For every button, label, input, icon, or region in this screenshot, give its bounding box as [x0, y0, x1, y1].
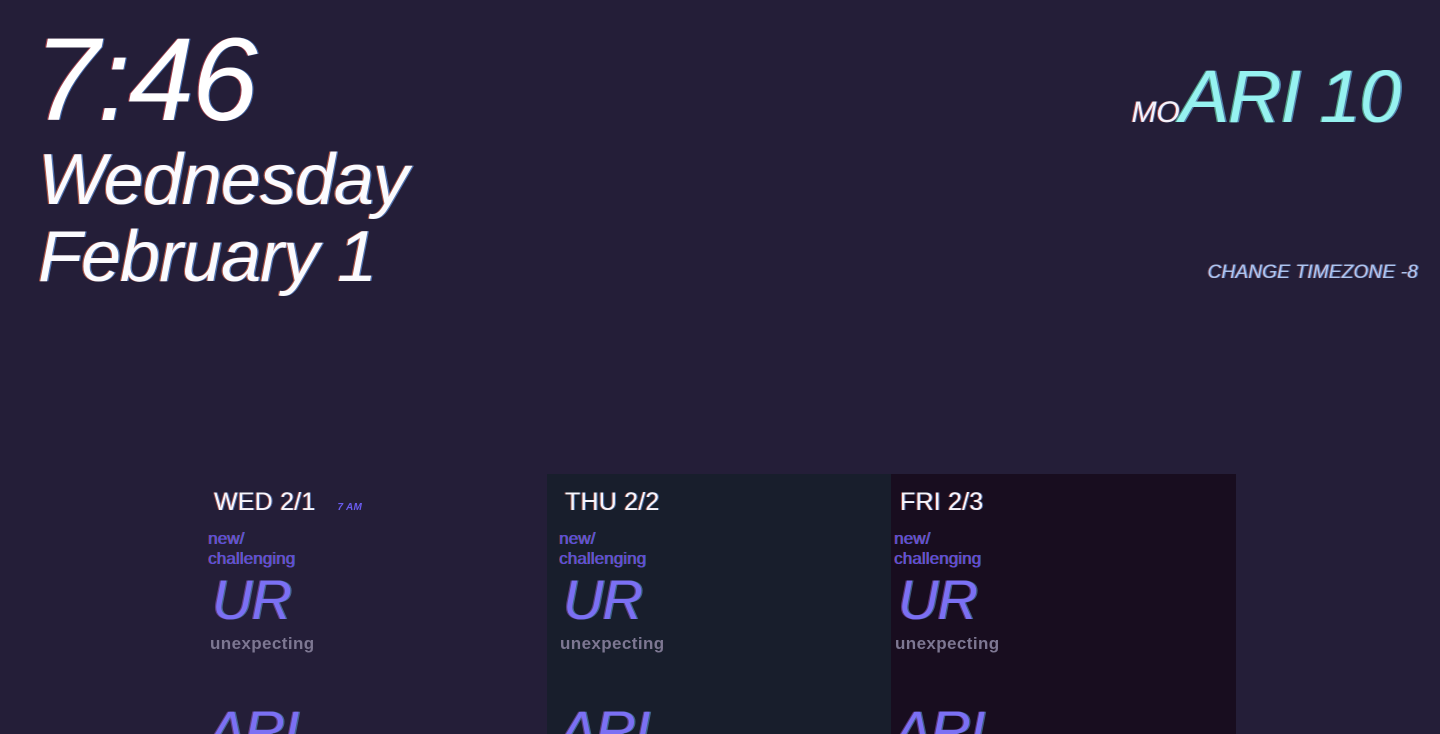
keyword-primary: UR	[563, 571, 891, 628]
keyword-subtitle: unexpecting	[210, 634, 548, 654]
zodiac-sign-block[interactable]: MO ARI 10	[1131, 60, 1400, 134]
card-date-label: THU 2/2	[565, 488, 659, 517]
clock-date: February 1	[38, 217, 408, 298]
card-header: WED 2/1 7 AM	[208, 488, 548, 517]
keyword-top: new/ challenging	[559, 529, 891, 569]
keyword-top-line2: challenging	[559, 549, 891, 569]
forecast-card-thu[interactable]: THU 2/2 new/ challenging UR unexpecting …	[547, 474, 891, 734]
card-body: new/ challenging UR unexpecting ARI	[208, 529, 548, 734]
clock-weekday: Wednesday	[38, 140, 408, 221]
sign-label: ARI 10	[1180, 60, 1400, 134]
sign-prefix-label: MO	[1131, 96, 1179, 130]
card-hour-label: 7 AM	[337, 502, 362, 513]
keyword-top: new/ challenging	[894, 529, 1236, 569]
forecast-card-fri[interactable]: FRI 2/3 new/ challenging UR unexpecting …	[891, 474, 1236, 734]
keyword-top-line1: new/	[208, 529, 548, 549]
keyword-top-line1: new/	[559, 529, 891, 549]
keyword-subtitle: unexpecting	[895, 634, 1236, 654]
clock-block: 7:46 Wednesday February 1	[34, 20, 408, 298]
keyword-secondary: ARI	[208, 702, 548, 734]
clock-time: 7:46	[34, 20, 408, 140]
keyword-primary: UR	[212, 571, 548, 628]
card-header: FRI 2/3	[894, 488, 1236, 517]
card-body: new/ challenging UR unexpecting ARI	[894, 529, 1236, 734]
card-header: THU 2/2	[559, 488, 891, 517]
keyword-secondary: ARI	[894, 702, 1236, 734]
card-date-label: WED 2/1	[214, 488, 315, 517]
keyword-top-line1: new/	[894, 529, 1236, 549]
card-date-label: FRI 2/3	[900, 488, 983, 517]
keyword-top-line2: challenging	[208, 549, 548, 569]
keyword-top-line2: challenging	[894, 549, 1236, 569]
keyword-top: new/ challenging	[208, 529, 548, 569]
card-body: new/ challenging UR unexpecting ARI	[559, 529, 891, 734]
keyword-secondary: ARI	[559, 702, 891, 734]
app-root: 7:46 Wednesday February 1 MO ARI 10 CHAN…	[0, 0, 1440, 734]
keyword-primary: UR	[898, 571, 1236, 628]
keyword-subtitle: unexpecting	[560, 634, 891, 654]
forecast-card-wed[interactable]: WED 2/1 7 AM new/ challenging UR unexpec…	[178, 474, 548, 734]
change-timezone-link[interactable]: CHANGE TIMEZONE -8	[1207, 262, 1418, 284]
forecast-card-row: WED 2/1 7 AM new/ challenging UR unexpec…	[0, 474, 1440, 734]
